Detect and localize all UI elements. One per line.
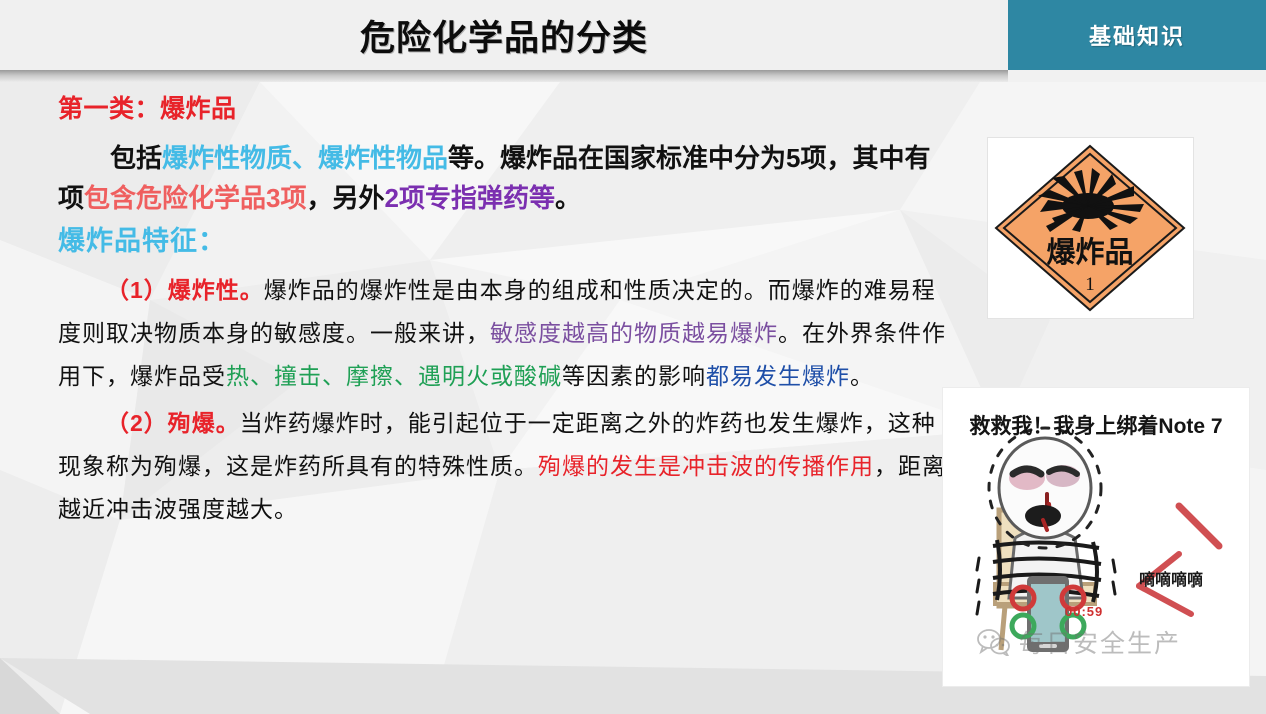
item1-seg-2-highlight: 敏感度越高的物质越易爆炸 — [490, 321, 778, 346]
wechat-logo-icon — [977, 628, 1011, 656]
content-column: 第一类：爆炸品 包括爆炸性物质、爆炸性物品等。爆炸品在国家标准中分为5项，其中有… — [58, 96, 948, 535]
intro-seg-5: ，另外 — [306, 183, 384, 213]
feature-heading: 爆炸品特征： — [58, 224, 948, 259]
header-section-tab-label: 基础知识 — [1089, 19, 1185, 51]
meme-phone-timer: 00:59 — [1065, 604, 1103, 619]
header-section-tab[interactable]: 基础知识 — [1008, 0, 1266, 70]
feature-item-2-label: （2）殉爆。 — [106, 410, 240, 436]
meme-watermark: 每日安全生产 — [977, 624, 1181, 660]
feature-item-1-paragraph: （1）爆炸性。爆炸品的爆炸性是由本身的组成和性质决定的。而爆炸的难易程度则取决物… — [58, 269, 948, 398]
item1-seg-5: 等因素的影响 — [562, 364, 706, 389]
feature-item-1-label: （1）爆炸性。 — [106, 277, 264, 303]
intro-seg-7: 。 — [555, 183, 581, 213]
intro-paragraph: 包括爆炸性物质、爆炸性物品等。爆炸品在国家标准中分为5项，其中有项包含危险化学品… — [58, 138, 948, 219]
intro-seg-6-highlight: 2项专指弹药等 — [385, 183, 555, 213]
placard-label: 爆炸品 — [1046, 236, 1133, 269]
slide-canvas: 危险化学品的分类 基础知识 第一类：爆炸品 包括爆炸性物质、爆炸性物品等。爆炸品… — [0, 0, 1266, 714]
meme-beep-text: 嘀嘀嘀嘀 — [1139, 566, 1203, 590]
slide-header: 危险化学品的分类 基础知识 — [0, 0, 1266, 70]
page-title: 危险化学品的分类 — [0, 0, 1008, 70]
class-heading: 第一类：爆炸品 — [58, 96, 948, 124]
placard-diamond-svg: 爆炸品 1 — [988, 138, 1193, 318]
header-shadow-strip — [0, 70, 1008, 82]
feature-item-2-paragraph: （2）殉爆。当炸药爆炸时，能引起位于一定距离之外的炸药也发生爆炸，这种现象称为殉… — [58, 402, 948, 531]
intro-seg-4-highlight: 包含危险化学品3项 — [84, 183, 306, 213]
placard-division: 1 — [1085, 274, 1095, 295]
item2-seg-2-highlight: 殉爆的发生是冲击波的传播作用 — [538, 454, 874, 479]
intro-seg-1: 包括 — [110, 143, 162, 173]
item1-seg-7: 。 — [850, 364, 874, 389]
meme-image: 救救我！我身上绑着Note 7 嘀嘀嘀嘀 00:59 每日安全生产 — [943, 388, 1249, 686]
intro-seg-2-highlight: 爆炸性物质、爆炸性物品 — [162, 143, 448, 173]
explosive-placard-image: 爆炸品 1 — [988, 138, 1193, 318]
item1-seg-4-highlight: 热、撞击、摩擦、遇明火或酸碱 — [226, 364, 562, 389]
meme-caption: 救救我！我身上绑着Note 7 — [943, 410, 1249, 440]
meme-watermark-text: 每日安全生产 — [1019, 624, 1181, 660]
item1-seg-6-highlight: 都易发生爆炸 — [706, 364, 850, 389]
